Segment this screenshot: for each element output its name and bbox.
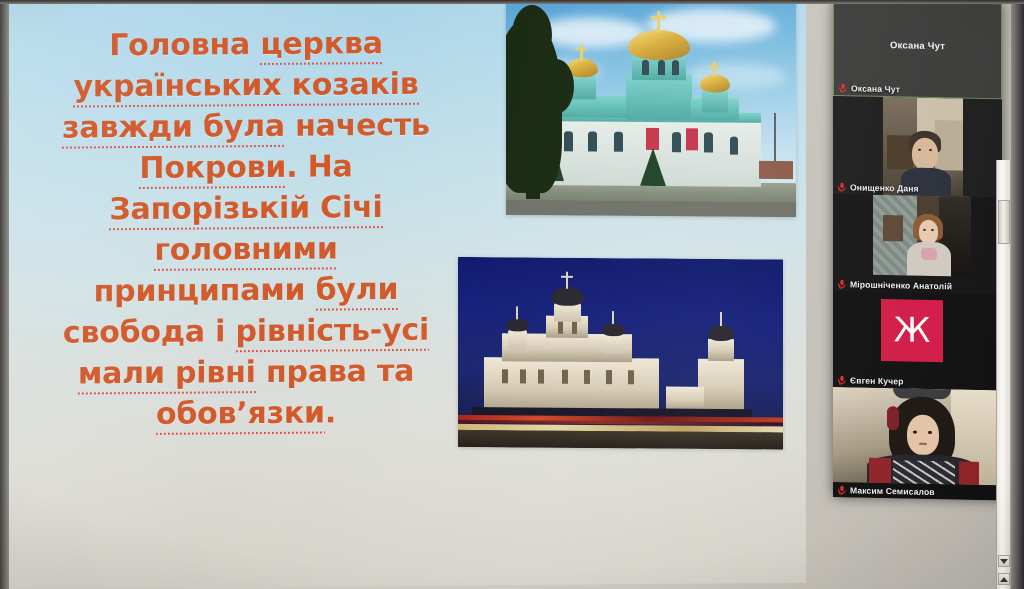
participant-tile[interactable]: Онищенко Даня: [833, 96, 1002, 197]
slide-line: обов’язки.: [35, 391, 457, 435]
participant-tile[interactable]: Ж Євген Кучер: [833, 291, 1002, 390]
slide-text-block: Головна церква українських козаків завжд…: [35, 22, 457, 435]
slide-line: Покрови. На: [35, 145, 457, 189]
participant-video: [833, 387, 1002, 485]
participant-namebar: Максим Семисалов: [833, 485, 940, 497]
slide-line: головними: [35, 227, 457, 271]
slide-line: Головна церква: [35, 22, 457, 66]
slide-line: мали рівні права та: [35, 350, 457, 394]
microphone-muted-icon: [839, 83, 847, 93]
participant-initial-avatar: Ж: [881, 299, 943, 362]
slide-image-church-daytime: [506, 0, 796, 217]
participant-name: Євген Кучер: [850, 375, 903, 386]
participant-video: [883, 97, 963, 197]
scroll-down-arrow-icon[interactable]: [998, 555, 1010, 567]
participant-tile[interactable]: Максим Семисалов: [833, 387, 1002, 500]
slide-line: завжди була начесть: [35, 104, 457, 148]
participant-namebar: Оксана Чут: [834, 83, 905, 94]
vertical-scrollbar[interactable]: [996, 160, 1011, 589]
participant-tile[interactable]: Мірошніченко Анатолій: [833, 194, 1002, 294]
scrollbar-thumb[interactable]: [998, 200, 1010, 244]
photographed-screen: Головна церква українських козаків завжд…: [0, 0, 1024, 589]
participant-tile[interactable]: Оксана Чут Оксана Чут: [833, 0, 1002, 99]
microphone-muted-icon: [838, 375, 846, 385]
participant-name: Максим Семисалов: [850, 485, 935, 497]
monitor-bezel-left: [0, 0, 9, 589]
participant-namebar: Мірошніченко Анатолій: [833, 279, 957, 291]
monitor-bezel-right: [1011, 0, 1024, 589]
video-conference-participant-strip[interactable]: Оксана Чут Оксана Чут: [833, 0, 1002, 500]
participant-name: Мірошніченко Анатолій: [850, 279, 952, 291]
scroll-up-arrow-icon[interactable]: [998, 573, 1010, 585]
participant-video: [873, 195, 971, 277]
slide-line: Запорізькій Січі: [35, 186, 457, 230]
slide-line: свобода і рівність-усі: [35, 309, 457, 353]
slide-line: принципами були: [35, 268, 457, 312]
microphone-muted-icon: [838, 279, 846, 289]
microphone-muted-icon: [838, 182, 846, 192]
slide-line: українських козаків: [35, 63, 457, 107]
participant-name: Онищенко Даня: [850, 182, 919, 193]
participant-namebar: Євген Кучер: [833, 375, 908, 387]
microphone-muted-icon: [838, 485, 846, 495]
participant-name: Оксана Чут: [851, 83, 900, 94]
slide-image-church-night: [458, 257, 783, 450]
presentation-slide: Головна церква українських козаків завжд…: [9, 0, 806, 589]
participant-namebar: Онищенко Даня: [833, 182, 924, 194]
monitor-bezel-top: [0, 0, 1024, 4]
participant-center-name: Оксана Чут: [834, 39, 1001, 53]
